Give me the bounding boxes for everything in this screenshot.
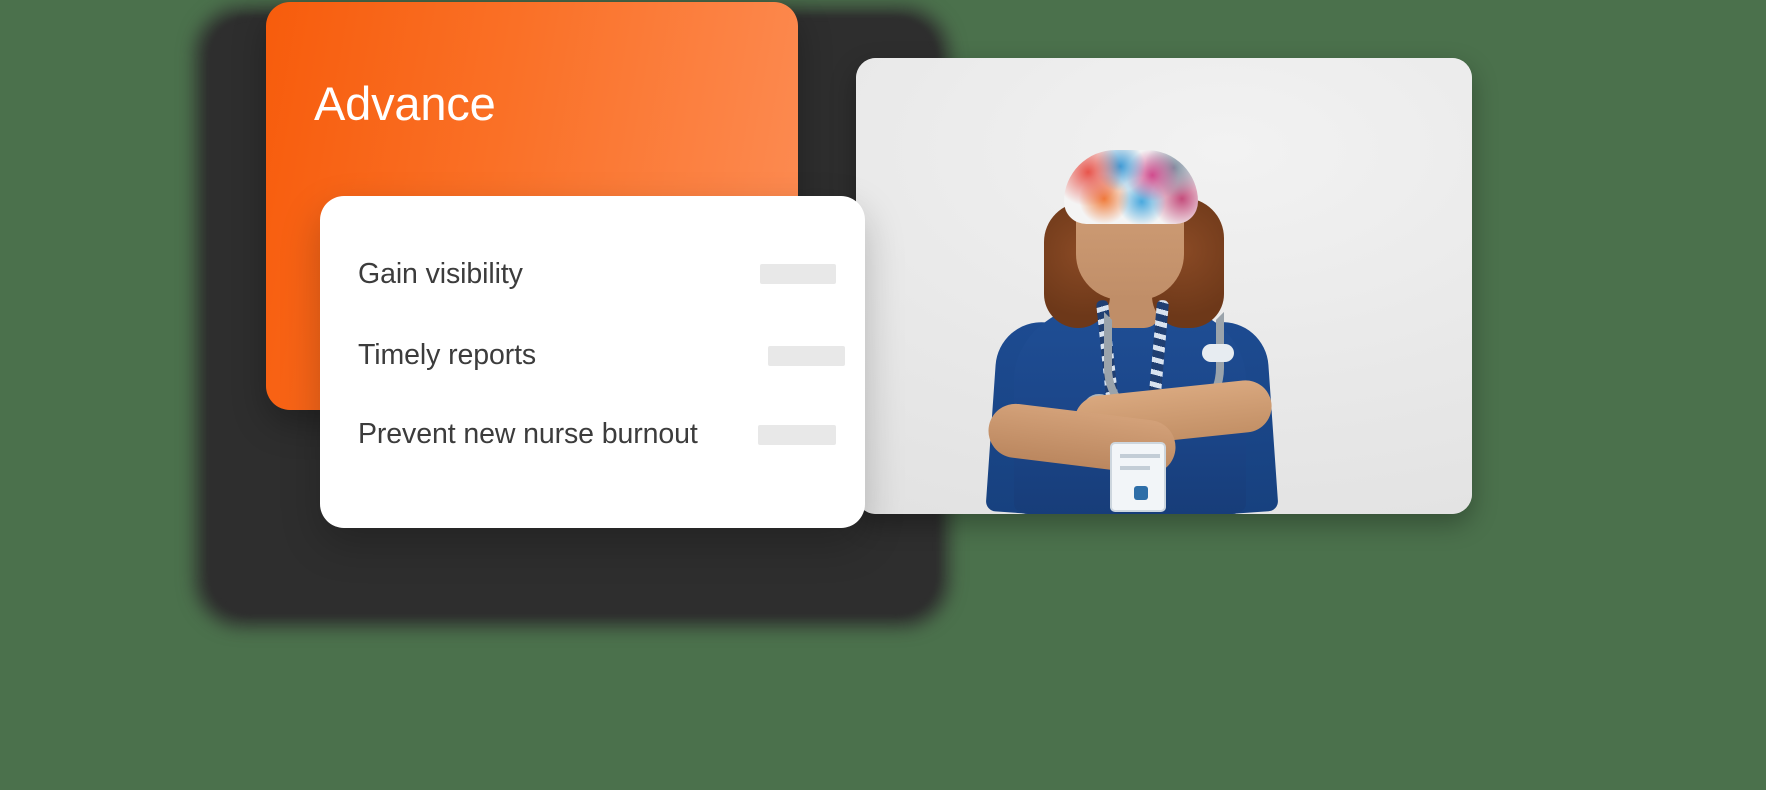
list-item[interactable]: Timely reports <box>320 335 865 375</box>
list-item[interactable]: Prevent new nurse burnout <box>320 414 865 454</box>
card-title: Advance <box>314 80 496 127</box>
list-item-label: Timely reports <box>358 335 536 375</box>
medical-cross-icon <box>1134 486 1148 500</box>
surgical-cap <box>1064 150 1198 224</box>
list-item[interactable]: Gain visibility <box>320 254 865 294</box>
id-badge <box>1110 442 1166 512</box>
nurse-photo <box>926 94 1326 514</box>
feature-list-card: Gain visibility Timely reports Prevent n… <box>320 196 865 528</box>
photo-card <box>856 58 1472 514</box>
list-item-placeholder-bar <box>758 425 836 445</box>
feature-list: Gain visibility Timely reports Prevent n… <box>320 226 865 528</box>
list-item-placeholder-bar <box>760 264 836 284</box>
composition-stage: Advance Gain visibility Timely reports P… <box>0 0 1766 790</box>
scrubs-pin <box>1202 344 1234 362</box>
list-item-label: Prevent new nurse burnout <box>358 414 698 454</box>
list-item-label: Gain visibility <box>358 254 523 294</box>
list-item-placeholder-bar <box>768 346 845 366</box>
